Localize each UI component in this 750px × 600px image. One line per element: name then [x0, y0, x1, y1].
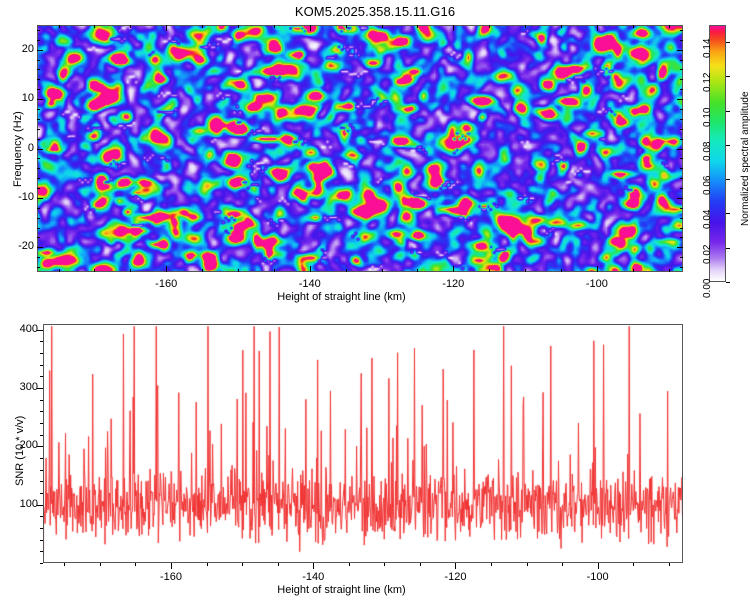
axis-tick — [677, 50, 683, 51]
snr-y-tick-label: 300 — [10, 381, 38, 393]
spectrogram-x-tick-label: -120 — [433, 278, 473, 290]
colorbar-tick-label: 0.04 — [702, 210, 713, 229]
axis-tick — [489, 269, 490, 272]
axis-tick — [680, 79, 683, 80]
axis-tick — [453, 25, 454, 31]
spectrogram-x-axis-label: Height of straight line (km) — [0, 291, 683, 303]
axis-tick — [680, 129, 683, 130]
snr-x-tick-label: -160 — [151, 571, 191, 583]
axis-tick — [171, 563, 172, 569]
axis-tick — [310, 266, 311, 272]
snr-x-axis-label: Height of straight line (km) — [0, 584, 683, 596]
axis-tick — [561, 25, 562, 28]
axis-tick — [633, 25, 634, 28]
axis-tick — [238, 25, 239, 28]
axis-tick — [677, 198, 683, 199]
axis-tick — [37, 99, 43, 100]
colorbar-tick-label: 0.08 — [702, 141, 713, 160]
axis-tick — [680, 109, 683, 110]
axis-tick — [37, 218, 40, 219]
axis-tick — [40, 516, 43, 517]
axis-tick — [669, 269, 670, 272]
axis-tick — [680, 218, 683, 219]
axis-tick — [598, 563, 599, 569]
axis-tick — [527, 563, 528, 566]
figure-title: KOM5.2025.358.15.11.G16 — [0, 4, 750, 19]
axis-tick — [37, 139, 40, 140]
axis-tick — [417, 269, 418, 272]
axis-tick — [94, 25, 95, 28]
axis-tick — [680, 188, 683, 189]
axis-tick — [633, 563, 634, 566]
axis-tick — [274, 269, 275, 272]
axis-tick — [37, 228, 40, 229]
snr-y-tick-label: 100 — [10, 498, 38, 510]
axis-tick — [130, 269, 131, 272]
axis-tick — [37, 149, 43, 150]
snr-x-tick-label: -120 — [435, 571, 475, 583]
colorbar-tick — [726, 179, 730, 180]
colorbar-tick-label: 0.02 — [702, 244, 713, 263]
axis-tick — [40, 481, 43, 482]
colorbar-tick-label: 0.00 — [702, 279, 713, 298]
axis-tick — [680, 89, 683, 90]
axis-tick — [669, 563, 670, 566]
spectrogram-x-tick-label: -140 — [290, 278, 330, 290]
axis-tick — [37, 158, 40, 159]
axis-tick — [677, 247, 683, 248]
axis-tick — [680, 228, 683, 229]
axis-tick — [680, 139, 683, 140]
axis-tick — [562, 563, 563, 566]
axis-tick — [37, 109, 40, 110]
snr-x-tick-label: -140 — [293, 571, 333, 583]
axis-tick — [37, 40, 40, 41]
axis-tick — [680, 119, 683, 120]
axis-tick — [680, 60, 683, 61]
axis-tick — [680, 69, 683, 70]
axis-tick — [274, 25, 275, 28]
spectrogram-y-tick-label: 20 — [8, 43, 34, 55]
axis-tick — [680, 158, 683, 159]
axis-tick — [40, 353, 43, 354]
axis-tick — [680, 40, 683, 41]
axis-tick — [202, 25, 203, 28]
axis-tick — [59, 25, 60, 28]
axis-tick — [40, 563, 43, 564]
axis-tick — [384, 563, 385, 566]
axis-tick — [135, 563, 136, 566]
axis-tick — [313, 563, 314, 569]
axis-tick — [37, 237, 40, 238]
snr-y-axis-label: SNR (10 * v/v) — [14, 415, 26, 485]
axis-tick — [346, 269, 347, 272]
axis-tick — [40, 411, 43, 412]
axis-tick — [37, 30, 40, 31]
axis-tick — [525, 25, 526, 28]
colorbar-tick — [726, 248, 730, 249]
axis-tick — [37, 168, 40, 169]
axis-tick — [37, 247, 43, 248]
axis-tick — [633, 269, 634, 272]
axis-tick — [37, 188, 40, 189]
axis-tick — [382, 269, 383, 272]
axis-tick — [278, 563, 279, 566]
axis-tick — [64, 563, 65, 566]
axis-tick — [677, 149, 683, 150]
axis-tick — [680, 267, 683, 268]
axis-tick — [37, 60, 40, 61]
axis-tick — [238, 269, 239, 272]
axis-tick — [37, 178, 40, 179]
axis-tick — [37, 69, 40, 70]
axis-tick — [597, 25, 598, 31]
axis-tick — [40, 470, 43, 471]
axis-tick — [680, 237, 683, 238]
axis-tick — [680, 257, 683, 258]
axis-tick — [597, 266, 598, 272]
axis-tick — [40, 493, 43, 494]
colorbar-tick-label: 0.12 — [702, 73, 713, 92]
axis-tick — [59, 269, 60, 272]
snr-plot-frame — [43, 324, 683, 563]
axis-tick — [680, 30, 683, 31]
axis-tick — [242, 563, 243, 566]
axis-tick — [37, 89, 40, 90]
colorbar-tick — [726, 42, 730, 43]
axis-tick — [455, 563, 456, 569]
axis-tick — [346, 25, 347, 28]
axis-tick — [491, 563, 492, 566]
colorbar-tick — [726, 282, 730, 283]
axis-tick — [669, 25, 670, 28]
colorbar-tick — [726, 145, 730, 146]
axis-tick — [420, 563, 421, 566]
axis-tick — [40, 400, 43, 401]
axis-tick — [40, 423, 43, 424]
axis-tick — [94, 269, 95, 272]
axis-tick — [40, 341, 43, 342]
spectrogram-frame — [37, 25, 683, 272]
axis-tick — [202, 269, 203, 272]
axis-tick — [37, 257, 40, 258]
spectrogram-y-tick-label: -20 — [8, 240, 34, 252]
axis-tick — [40, 458, 43, 459]
axis-tick — [37, 119, 40, 120]
axis-tick — [166, 25, 167, 31]
colorbar-tick — [726, 76, 730, 77]
axis-tick — [37, 50, 43, 51]
axis-tick — [310, 25, 311, 31]
figure-root: KOM5.2025.358.15.11.G16 -20-1001020 -160… — [0, 0, 750, 600]
snr-y-tick-label: 400 — [10, 323, 38, 335]
axis-tick — [680, 168, 683, 169]
axis-tick — [417, 25, 418, 28]
axis-tick — [40, 435, 43, 436]
axis-tick — [382, 25, 383, 28]
spectrogram-y-tick-label: 10 — [8, 92, 34, 104]
axis-tick — [40, 376, 43, 377]
axis-tick — [166, 266, 167, 272]
axis-tick — [100, 563, 101, 566]
axis-tick — [561, 269, 562, 272]
axis-tick — [207, 563, 208, 566]
axis-tick — [40, 365, 43, 366]
axis-tick — [37, 79, 40, 80]
axis-tick — [680, 208, 683, 209]
axis-tick — [680, 178, 683, 179]
axis-tick — [489, 25, 490, 28]
spectrogram-x-tick-label: -160 — [146, 278, 186, 290]
colorbar-tick-label: 0.10 — [702, 107, 713, 126]
axis-tick — [677, 99, 683, 100]
colorbar-tick-label: 0.14 — [702, 39, 713, 58]
axis-tick — [130, 25, 131, 28]
spectrogram-y-tick-label: -10 — [8, 191, 34, 203]
axis-tick — [525, 269, 526, 272]
axis-tick — [37, 267, 40, 268]
axis-tick — [453, 266, 454, 272]
axis-tick — [40, 551, 43, 552]
spectrogram-x-tick-label: -100 — [577, 278, 617, 290]
colorbar-label: Normalized spectral amplitude — [740, 91, 750, 226]
axis-tick — [37, 198, 43, 199]
colorbar-tick-label: 0.06 — [702, 176, 713, 195]
colorbar-tick — [726, 213, 730, 214]
axis-tick — [37, 129, 40, 130]
axis-tick — [40, 528, 43, 529]
snr-x-tick-label: -100 — [578, 571, 618, 583]
axis-tick — [40, 540, 43, 541]
colorbar-tick — [726, 111, 730, 112]
axis-tick — [349, 563, 350, 566]
axis-tick — [37, 208, 40, 209]
spectrogram-y-axis-label: Frequency (Hz) — [12, 111, 24, 187]
